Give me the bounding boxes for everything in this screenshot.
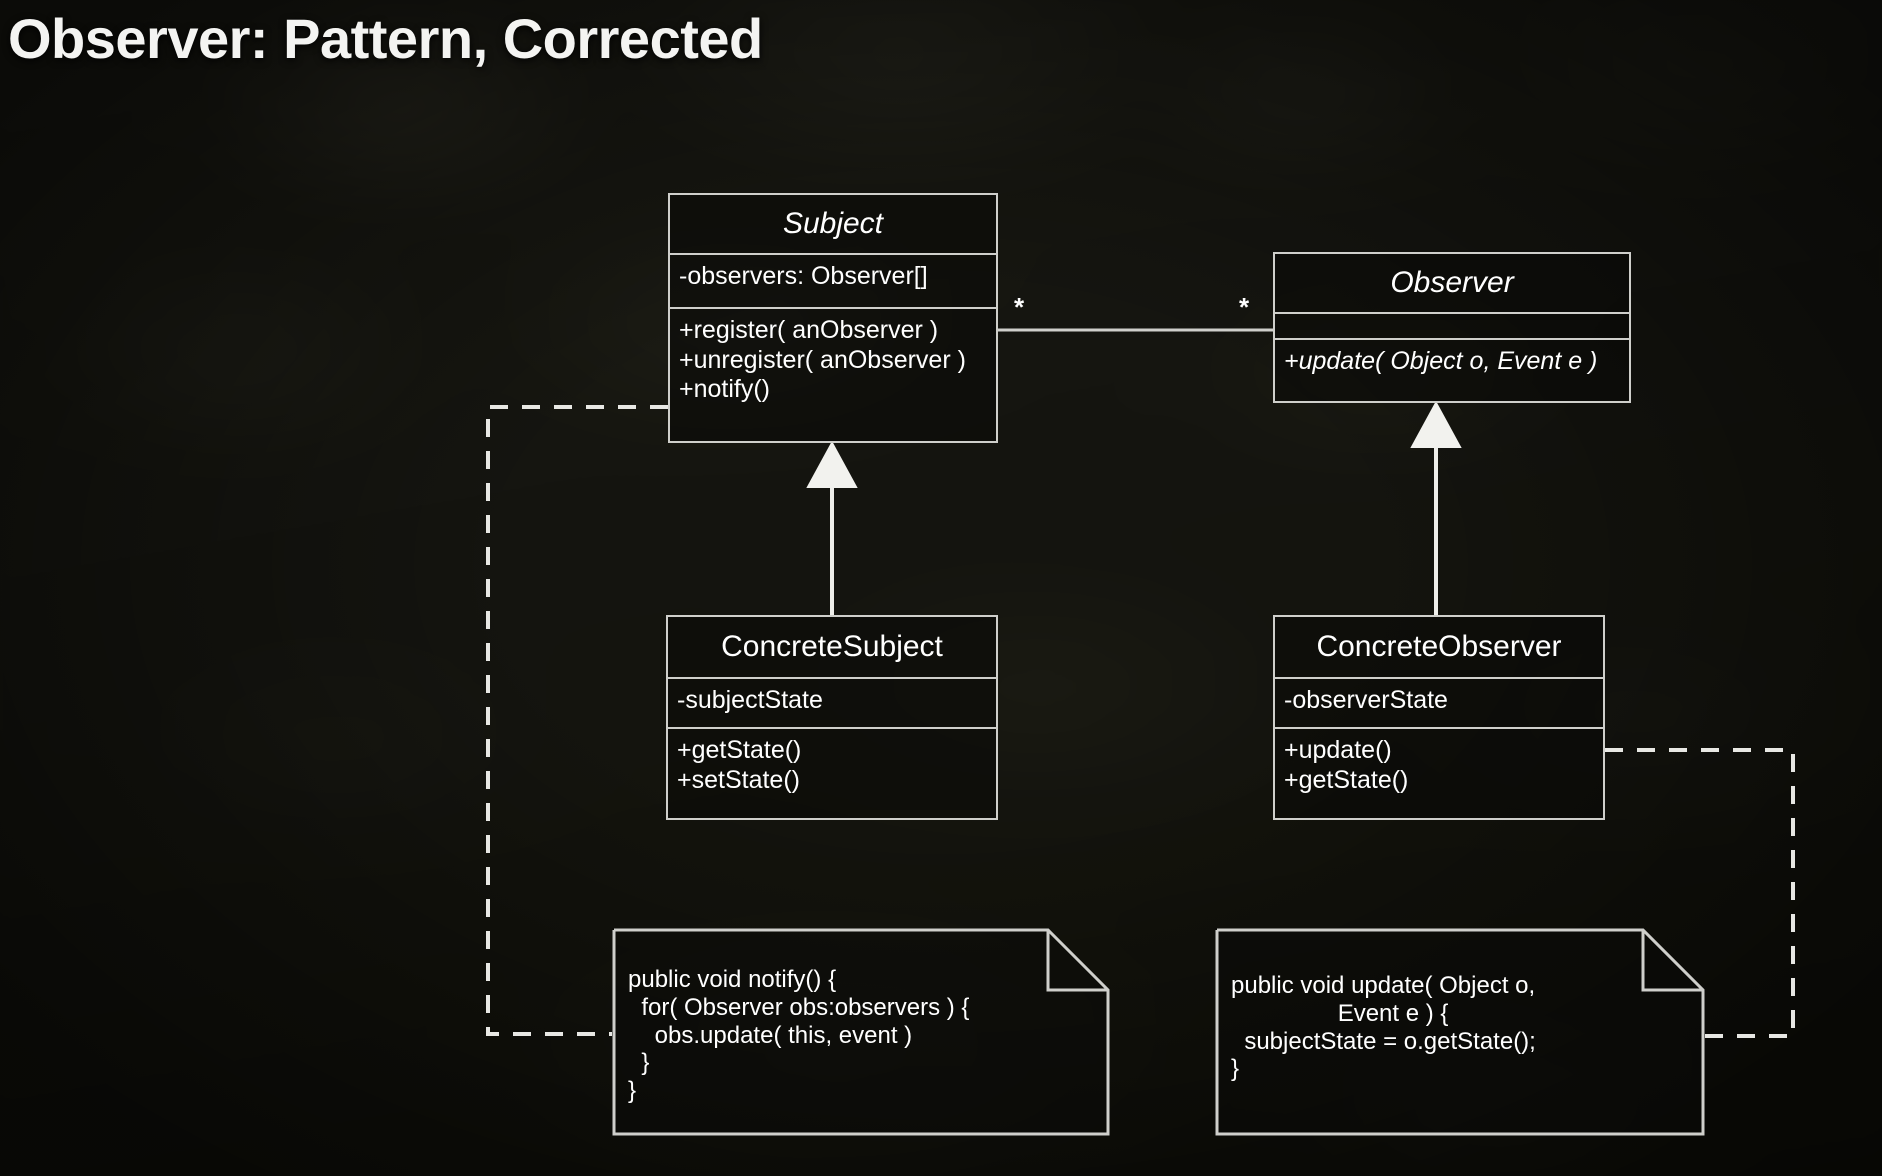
class-box-observer[interactable]: Observer +update( Object o, Event e ) — [1273, 252, 1631, 403]
operation-row: +unregister( anObserver ) — [679, 346, 988, 376]
class-name-observer: Observer — [1275, 254, 1629, 312]
note-notify[interactable]: public void notify() { for( Observer obs… — [612, 928, 1110, 1136]
class-box-concrete-observer[interactable]: ConcreteObserver -observerState +update(… — [1273, 615, 1605, 820]
class-attributes-concrete-observer: -observerState — [1275, 677, 1603, 727]
class-name-subject: Subject — [670, 195, 996, 253]
note-notify-code: public void notify() { for( Observer obs… — [612, 928, 1110, 1105]
operation-row: +getState() — [1284, 766, 1595, 796]
note-update-code: public void update( Object o, Event e ) … — [1215, 928, 1705, 1083]
operation-row: +setState() — [677, 766, 988, 796]
class-name-concrete-observer: ConcreteObserver — [1275, 617, 1603, 677]
class-attributes-subject: -observers: Observer[] — [670, 253, 996, 307]
operation-row: +getState() — [677, 736, 988, 766]
note-update[interactable]: public void update( Object o, Event e ) … — [1215, 928, 1705, 1136]
class-attributes-concrete-subject: -subjectState — [668, 677, 996, 727]
class-box-concrete-subject[interactable]: ConcreteSubject -subjectState +getState(… — [666, 615, 998, 820]
slide-canvas: Observer: Pattern, Corrected * * Subject… — [0, 0, 1882, 1176]
operation-row: +register( anObserver ) — [679, 316, 988, 346]
class-name-concrete-subject: ConcreteSubject — [668, 617, 996, 677]
operation-row: +notify() — [679, 375, 988, 405]
operation-row: +update( Object o, Event e ) — [1284, 347, 1621, 377]
multiplicity-subject-end: * — [1014, 294, 1024, 320]
operation-row: +update() — [1284, 736, 1595, 766]
attribute-row: -subjectState — [677, 686, 988, 716]
class-operations-concrete-subject: +getState() +setState() — [668, 727, 996, 804]
attribute-row: -observerState — [1284, 686, 1595, 716]
class-operations-concrete-observer: +update() +getState() — [1275, 727, 1603, 804]
attribute-row: -observers: Observer[] — [679, 262, 988, 292]
class-operations-subject: +register( anObserver ) +unregister( anO… — [670, 307, 996, 414]
multiplicity-observer-end: * — [1239, 294, 1249, 320]
class-operations-observer: +update( Object o, Event e ) — [1275, 338, 1629, 386]
class-attributes-observer — [1275, 312, 1629, 338]
class-box-subject[interactable]: Subject -observers: Observer[] +register… — [668, 193, 998, 443]
page-title: Observer: Pattern, Corrected — [8, 6, 763, 71]
